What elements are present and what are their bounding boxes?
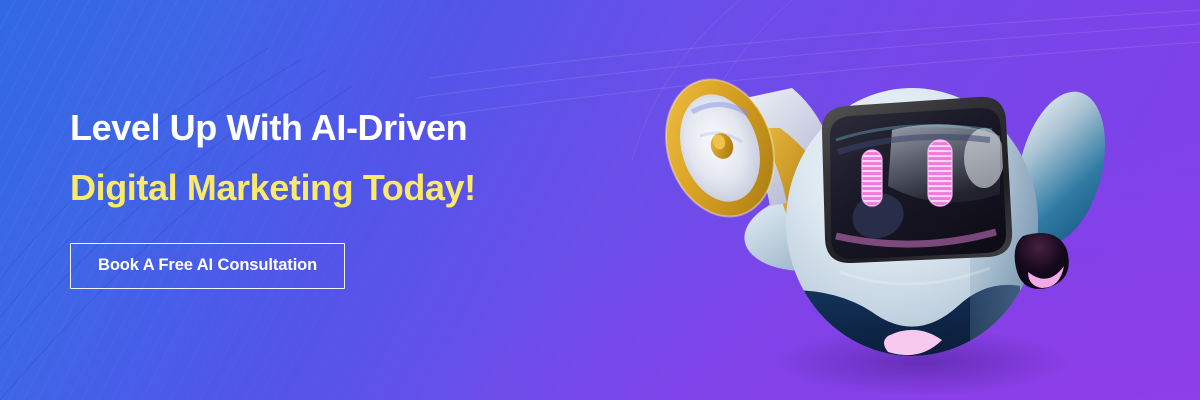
robot-mouth xyxy=(1015,233,1069,289)
promo-banner: Level Up With AI-Driven Digital Marketin… xyxy=(0,0,1200,400)
robot-eye-right xyxy=(928,140,952,206)
ai-robot-illustration xyxy=(640,40,1140,390)
banner-copy: Level Up With AI-Driven Digital Marketin… xyxy=(70,110,690,289)
robot-eye-left xyxy=(862,150,882,206)
headline-line-1: Level Up With AI-Driven xyxy=(70,110,690,146)
book-consultation-button[interactable]: Book A Free AI Consultation xyxy=(70,243,345,289)
robot-visor-glass xyxy=(830,108,1006,259)
headline-line-2: Digital Marketing Today! xyxy=(70,170,690,206)
